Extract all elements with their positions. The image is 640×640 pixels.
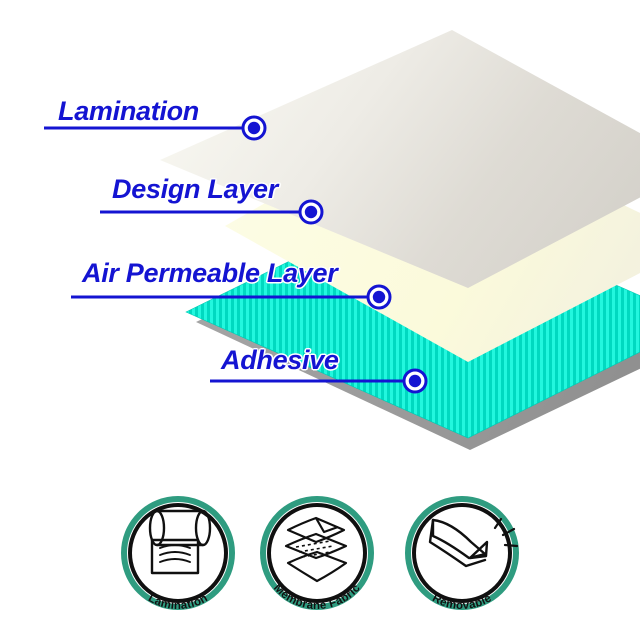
badge-membrane-fabric[interactable]: Membrane Fabric [263,499,371,612]
layer-structure-infographic: Lamination Design Layer Air Permeable La… [0,0,640,640]
badge-removable[interactable]: Removable [408,499,517,612]
badge-lamination[interactable]: Lamination [124,499,232,612]
feature-badges: Lamination Membrane Fabric [0,0,640,640]
